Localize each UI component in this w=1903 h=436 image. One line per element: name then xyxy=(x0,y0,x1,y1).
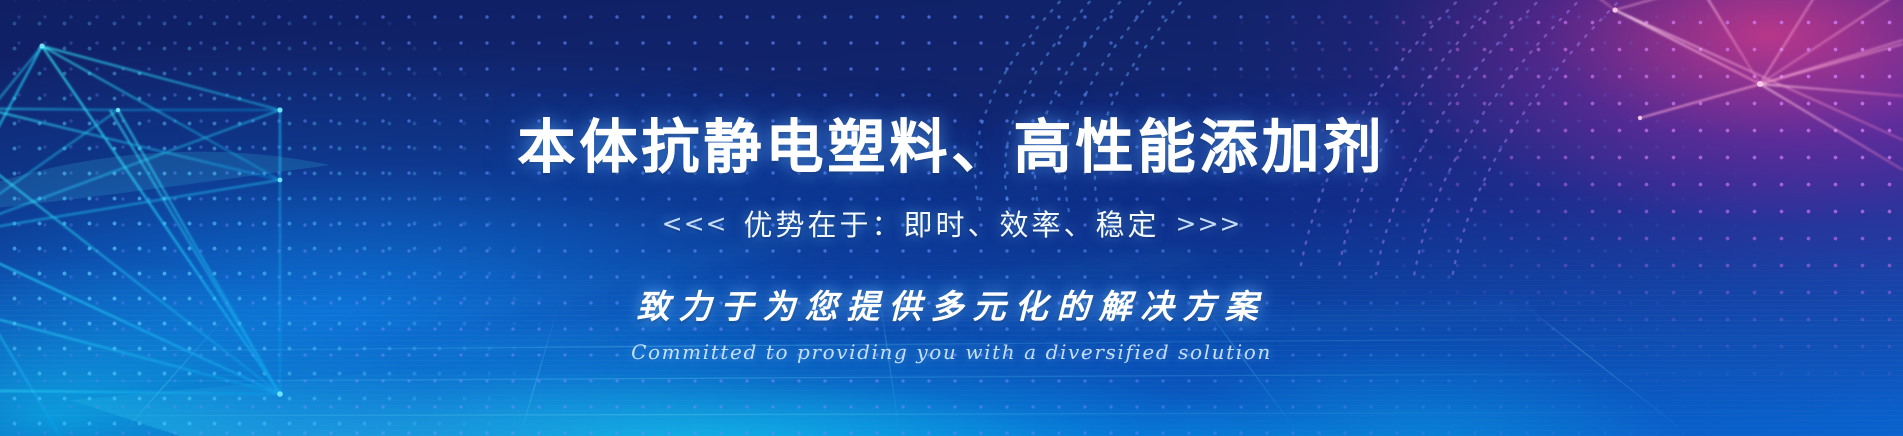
banner-subline-text: 优势在于：即时、效率、稳定 xyxy=(743,202,1159,244)
chevron-left-icon: <<< xyxy=(662,209,728,238)
banner-slogan-cn: 致力于为您提供多元化的解决方案 xyxy=(637,280,1267,328)
banner-content: 本体抗静电塑料、高性能添加剂 <<< 优势在于：即时、效率、稳定 >>> 致力于… xyxy=(0,0,1903,436)
banner-slogan-en: Committed to providing you with a divers… xyxy=(631,340,1272,364)
hero-banner: 本体抗静电塑料、高性能添加剂 <<< 优势在于：即时、效率、稳定 >>> 致力于… xyxy=(0,0,1903,436)
banner-headline: 本体抗静电塑料、高性能添加剂 xyxy=(517,118,1385,176)
banner-subline: <<< 优势在于：即时、效率、稳定 >>> xyxy=(662,202,1242,244)
chevron-right-icon: >>> xyxy=(1176,209,1242,238)
